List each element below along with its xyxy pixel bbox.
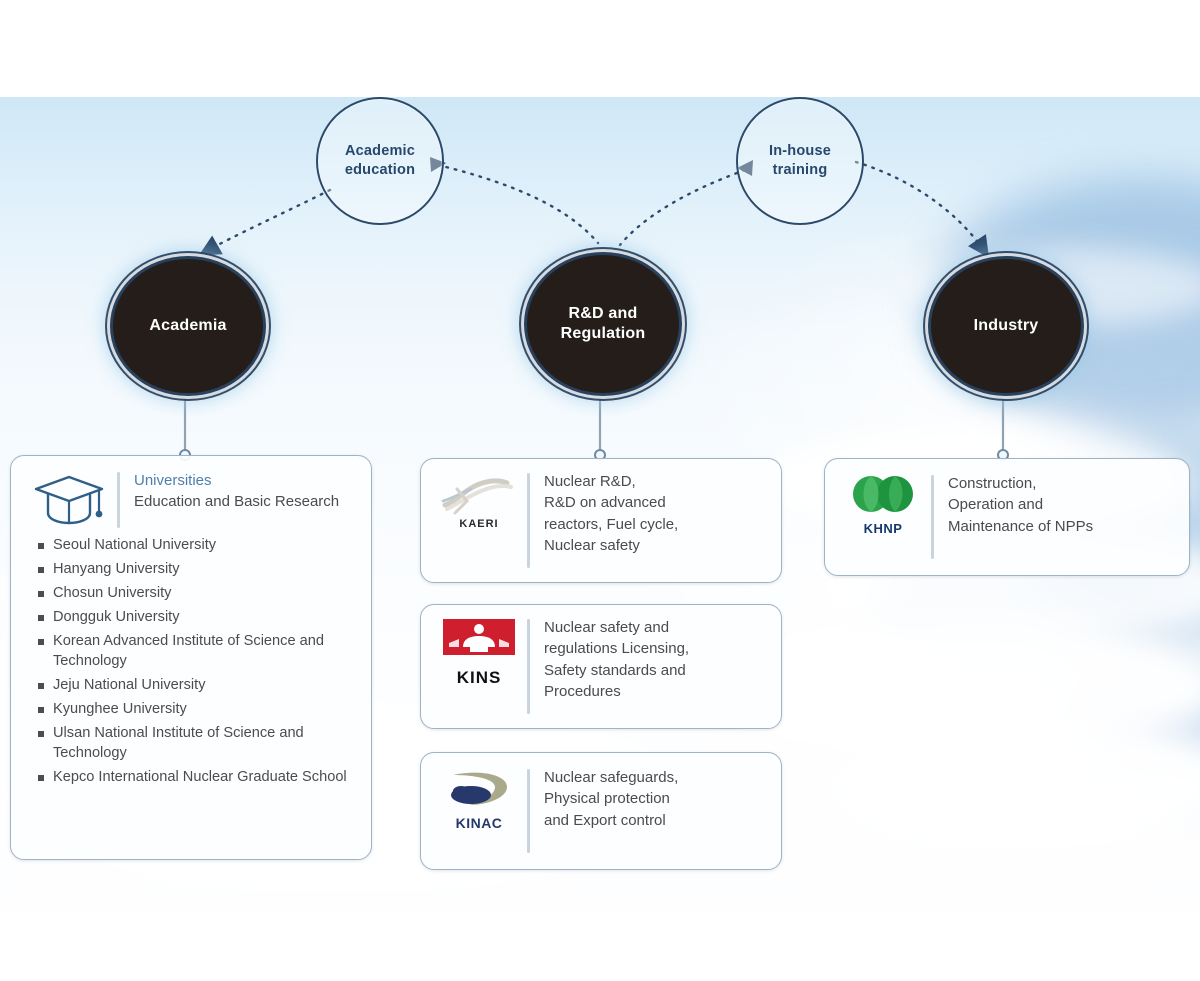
node-industry-label: Industry [974, 316, 1039, 336]
node-academia[interactable]: Academia [110, 256, 266, 396]
bubble-academic-education-line2: education [345, 161, 415, 180]
card-kaeri-line4: Nuclear safety [544, 535, 771, 556]
top-white-margin [0, 0, 1200, 97]
list-item: Kyunghee University [37, 700, 347, 720]
kaeri-logo-text: KAERI [437, 518, 521, 530]
graduation-cap-icon [21, 470, 117, 530]
bubble-in-house-training-line1: In-house [769, 142, 831, 161]
card-kins-text: Nuclear safety and regulations Licensing… [530, 617, 771, 702]
card-kaeri-line1: Nuclear R&D, [544, 471, 771, 492]
card-kaeri[interactable]: KAERI Nuclear R&D, R&D on advanced react… [420, 458, 782, 583]
bottom-white-margin [0, 890, 1200, 981]
kinac-logo-text: KINAC [437, 816, 521, 830]
kaeri-logo: KAERI [431, 471, 527, 530]
card-kinac[interactable]: KINAC Nuclear safeguards, Physical prote… [420, 752, 782, 870]
kins-logo-text: KINS [437, 669, 521, 686]
card-khnp-line2: Operation and [948, 494, 1179, 515]
card-khnp-text: Construction, Operation and Maintenance … [934, 473, 1179, 537]
card-universities-subheading: Education and Basic Research [134, 491, 361, 512]
khnp-logo-text: KHNP [841, 522, 925, 535]
card-kaeri-line2: R&D on advanced [544, 492, 771, 513]
card-khnp-line1: Construction, [948, 473, 1179, 494]
card-kins[interactable]: KINS Nuclear safety and regulations Lice… [420, 604, 782, 729]
card-kinac-line2: Physical protection [544, 788, 771, 809]
card-kins-line2: regulations Licensing, [544, 638, 771, 659]
list-item: Ulsan National Institute of Science and … [37, 724, 347, 764]
list-item: Jeju National University [37, 676, 347, 696]
card-kins-line4: Procedures [544, 681, 771, 702]
card-kinac-line1: Nuclear safeguards, [544, 767, 771, 788]
card-khnp[interactable]: KHNP Construction, Operation and Mainten… [824, 458, 1190, 576]
node-industry[interactable]: Industry [928, 256, 1084, 396]
card-kins-line1: Nuclear safety and [544, 617, 771, 638]
diagram-canvas: Academic education In-house training Aca… [0, 0, 1200, 981]
card-khnp-line3: Maintenance of NPPs [948, 516, 1179, 537]
node-rnd-label-line1: R&D and [561, 304, 646, 324]
list-item: Chosun University [37, 584, 347, 604]
list-item: Seoul National University [37, 536, 347, 556]
card-universities-header: Universities Education and Basic Researc… [21, 470, 361, 530]
list-item: Hanyang University [37, 560, 347, 580]
bubble-in-house-training[interactable]: In-house training [736, 97, 864, 225]
khnp-logo: KHNP [835, 473, 931, 535]
card-kins-header: KINS Nuclear safety and regulations Lice… [431, 617, 771, 716]
card-universities[interactable]: Universities Education and Basic Researc… [10, 455, 372, 860]
card-universities-heading-block: Universities Education and Basic Researc… [120, 470, 361, 513]
list-item: Korean Advanced Institute of Science and… [37, 632, 347, 672]
node-rnd-regulation[interactable]: R&D and Regulation [524, 252, 682, 396]
card-kinac-header: KINAC Nuclear safeguards, Physical prote… [431, 767, 771, 855]
bubble-academic-education-line1: Academic [345, 142, 415, 161]
card-kaeri-line3: reactors, Fuel cycle, [544, 514, 771, 535]
card-kins-line3: Safety standards and [544, 660, 771, 681]
card-khnp-header: KHNP Construction, Operation and Mainten… [835, 473, 1179, 561]
university-list: Seoul National University Hanyang Univer… [21, 530, 361, 802]
kinac-logo: KINAC [431, 767, 527, 830]
card-kinac-text: Nuclear safeguards, Physical protection … [530, 767, 771, 831]
card-kaeri-header: KAERI Nuclear R&D, R&D on advanced react… [431, 471, 771, 570]
kins-logo: KINS [431, 617, 527, 686]
node-rnd-label-line2: Regulation [561, 324, 646, 344]
card-universities-heading: Universities [134, 470, 361, 491]
card-kinac-line3: and Export control [544, 810, 771, 831]
node-academia-label: Academia [149, 316, 226, 336]
card-kaeri-text: Nuclear R&D, R&D on advanced reactors, F… [530, 471, 771, 556]
list-item: Kepco International Nuclear Graduate Sch… [37, 768, 347, 788]
bubble-in-house-training-line2: training [769, 161, 831, 180]
bubble-academic-education[interactable]: Academic education [316, 97, 444, 225]
list-item: Dongguk University [37, 608, 347, 628]
